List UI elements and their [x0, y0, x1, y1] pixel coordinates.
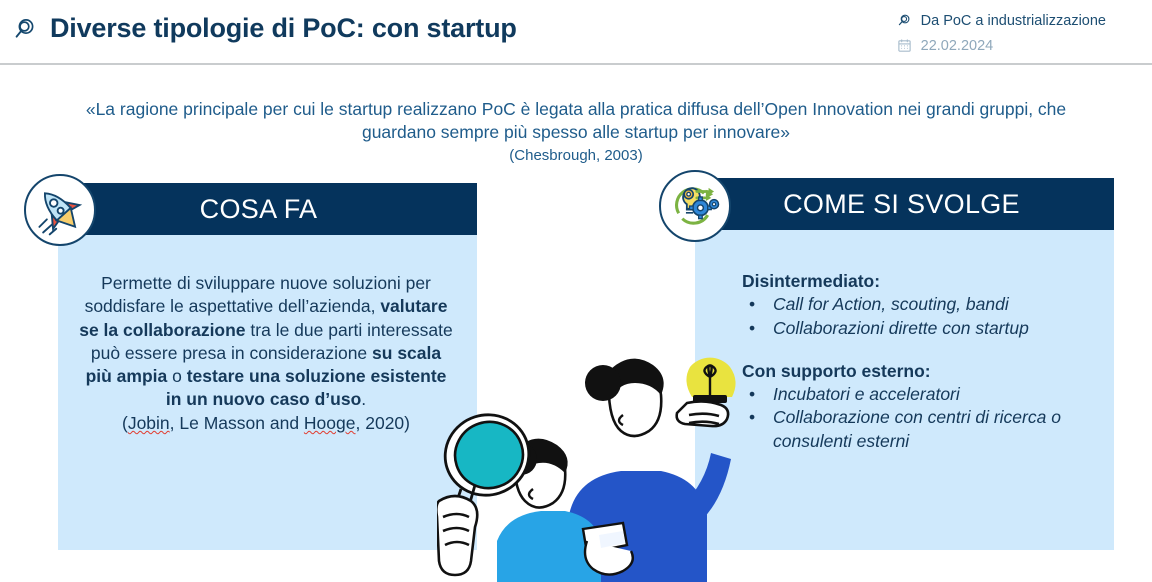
group-spacer	[742, 340, 1102, 360]
meta-topic-row: Da PoC a industrializzazione	[897, 8, 1106, 33]
left-text-part3: o	[167, 366, 186, 386]
left-text-part4: .	[361, 389, 366, 409]
left-panel-heading: COSA FA	[200, 194, 338, 225]
left-text-part1: Permette di sviluppare nuove soluzioni p…	[85, 273, 431, 316]
slide: Diverse tipologie di PoC: con startup Da…	[0, 0, 1152, 582]
magnifier-icon	[12, 16, 38, 42]
quote-source: (Chesbrough, 2003)	[56, 145, 1096, 167]
left-panel-header: COSA FA	[60, 183, 477, 235]
quote-block: «La ragione principale per cui le startu…	[56, 98, 1096, 167]
rocket-icon	[24, 174, 96, 246]
left-citation-mid: , Le Masson and	[170, 413, 304, 433]
left-citation-end: , 2020)	[356, 413, 410, 433]
quote-text: «La ragione principale per cui le startu…	[86, 99, 1066, 142]
right-panel-header: COME SI SVOLGE	[695, 178, 1114, 230]
right-group-list-0: Call for Action, scouting, bandi Collabo…	[744, 293, 1102, 340]
left-citation-name2: Hooge	[304, 413, 356, 433]
magnifier-icon	[897, 13, 912, 28]
list-item: Call for Action, scouting, bandi	[744, 293, 1102, 316]
left-text-bold3: testare una soluzione esistente in un nu…	[166, 366, 447, 409]
calendar-icon	[897, 38, 912, 53]
title-group: Diverse tipologie di PoC: con startup	[12, 13, 517, 44]
slide-header: Diverse tipologie di PoC: con startup Da…	[0, 0, 1152, 64]
list-item: Incubatori e acceleratori	[744, 383, 1102, 406]
gears-lightbulb-icon	[659, 170, 731, 242]
header-divider	[0, 63, 1152, 65]
page-title: Diverse tipologie di PoC: con startup	[50, 13, 517, 44]
meta-date-label: 22.02.2024	[921, 38, 994, 54]
meta-topic-label: Da PoC a industrializzazione	[921, 13, 1106, 29]
right-group-heading-1: Con supporto esterno:	[742, 360, 1102, 383]
right-panel-text: Disintermediato: Call for Action, scouti…	[742, 270, 1102, 453]
meta-date-row: 22.02.2024	[897, 33, 1106, 58]
right-panel-heading: COME SI SVOLGE	[783, 189, 1026, 220]
right-group-heading-0: Disintermediato:	[742, 270, 1102, 293]
left-panel-text: Permette di sviluppare nuove soluzioni p…	[76, 272, 456, 435]
header-meta: Da PoC a industrializzazione 22.02.2024	[897, 8, 1106, 58]
left-citation-name1: Jobin	[128, 413, 170, 433]
list-item: Collaborazioni dirette con startup	[744, 317, 1102, 340]
people-magnifier-lightbulb-illustration	[437, 355, 767, 582]
right-group-list-1: Incubatori e acceleratori Collaborazione…	[744, 383, 1102, 453]
list-item: Collaborazione con centri di ricerca o c…	[744, 406, 1102, 453]
